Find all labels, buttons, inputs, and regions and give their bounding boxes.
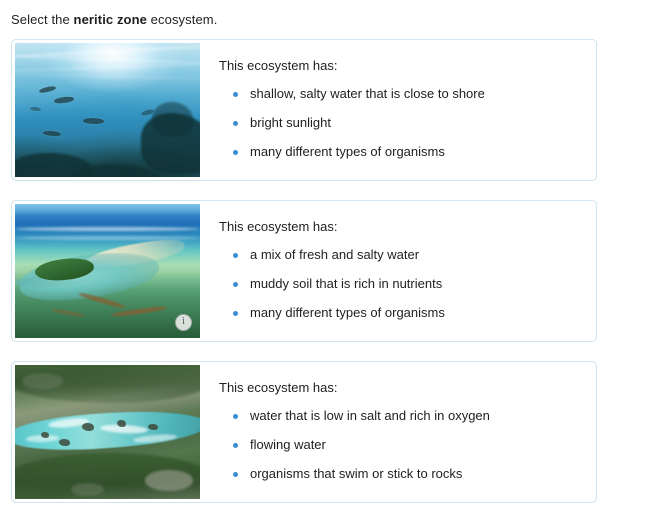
answer-option-1-body: This ecosystem has: shallow, salty water… xyxy=(200,40,596,174)
prompt-text-before: Select the xyxy=(11,12,74,27)
answer-option-2-trait-list: a mix of fresh and salty water muddy soi… xyxy=(219,247,584,321)
neritic-zone-underwater-photo xyxy=(15,43,200,177)
trait-text: water that is low in salt and rich in ox… xyxy=(250,408,490,423)
answer-option-2-body: This ecosystem has: a mix of fresh and s… xyxy=(200,201,596,335)
bullet-icon xyxy=(233,282,238,287)
trait-text: muddy soil that is rich in nutrients xyxy=(250,276,442,291)
bullet-icon xyxy=(233,472,238,477)
answer-option-2-heading: This ecosystem has: xyxy=(219,219,584,235)
answer-option-2-image[interactable]: i xyxy=(15,204,200,338)
quiz-question: Select the neritic zone ecosystem. xyxy=(0,0,653,503)
trait-text: bright sunlight xyxy=(250,115,331,130)
prompt-highlight-term: neritic zone xyxy=(74,12,147,27)
question-prompt: Select the neritic zone ecosystem. xyxy=(0,8,653,28)
trait-item: shallow, salty water that is close to sh… xyxy=(233,86,584,102)
answer-options-list: This ecosystem has: shallow, salty water… xyxy=(0,39,653,503)
bullet-icon xyxy=(233,92,238,97)
image-info-badge-icon[interactable]: i xyxy=(175,314,192,331)
answer-option-3-heading: This ecosystem has: xyxy=(219,380,584,396)
answer-option-1-heading: This ecosystem has: xyxy=(219,58,584,74)
trait-text: many different types of organisms xyxy=(250,305,445,320)
trait-item: water that is low in salt and rich in ox… xyxy=(233,408,584,424)
trait-item: many different types of organisms xyxy=(233,305,584,321)
answer-option-3-body: This ecosystem has: water that is low in… xyxy=(200,362,596,496)
bullet-icon xyxy=(233,253,238,258)
trait-item: flowing water xyxy=(233,437,584,453)
trait-item: muddy soil that is rich in nutrients xyxy=(233,276,584,292)
trait-text: shallow, salty water that is close to sh… xyxy=(250,86,485,101)
bullet-icon xyxy=(233,121,238,126)
trait-text: organisms that swim or stick to rocks xyxy=(250,466,462,481)
trait-item: bright sunlight xyxy=(233,115,584,131)
trait-item: a mix of fresh and salty water xyxy=(233,247,584,263)
trait-item: organisms that swim or stick to rocks xyxy=(233,466,584,482)
answer-option-1[interactable]: This ecosystem has: shallow, salty water… xyxy=(11,39,597,181)
trait-text: many different types of organisms xyxy=(250,144,445,159)
estuary-aerial-photo xyxy=(15,204,200,338)
answer-option-3-trait-list: water that is low in salt and rich in ox… xyxy=(219,408,584,482)
river-stream-photo xyxy=(15,365,200,499)
answer-option-2[interactable]: i This ecosystem has: a mix of fresh and… xyxy=(11,200,597,342)
trait-text: a mix of fresh and salty water xyxy=(250,247,419,262)
answer-option-3-image[interactable] xyxy=(15,365,200,499)
bullet-icon xyxy=(233,150,238,155)
answer-option-1-image[interactable] xyxy=(15,43,200,177)
bullet-icon xyxy=(233,443,238,448)
trait-text: flowing water xyxy=(250,437,326,452)
bullet-icon xyxy=(233,414,238,419)
answer-option-1-trait-list: shallow, salty water that is close to sh… xyxy=(219,86,584,160)
trait-item: many different types of organisms xyxy=(233,144,584,160)
prompt-text-after: ecosystem. xyxy=(147,12,217,27)
bullet-icon xyxy=(233,311,238,316)
answer-option-3[interactable]: This ecosystem has: water that is low in… xyxy=(11,361,597,503)
